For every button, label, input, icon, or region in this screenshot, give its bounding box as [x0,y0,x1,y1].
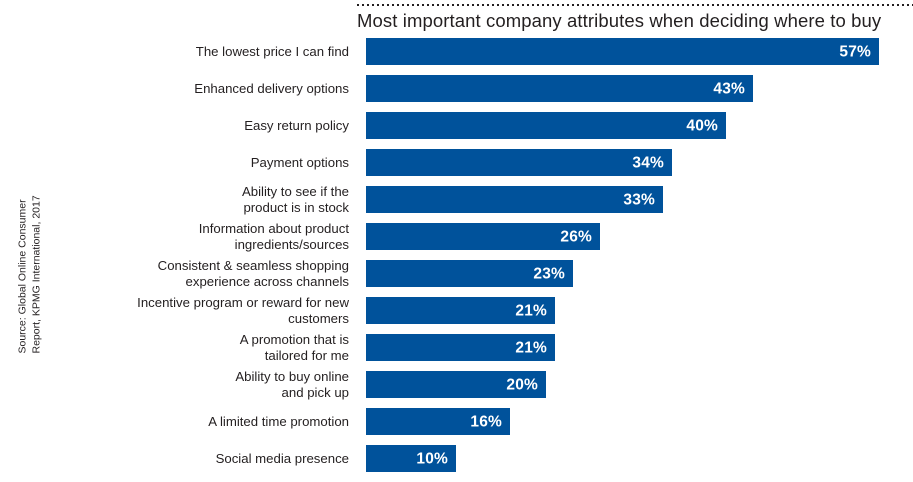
bar-value-label: 21% [515,339,547,356]
bar-row: Payment options34% [0,149,913,176]
bar-category-label: Incentive program or reward for new cust… [57,295,357,327]
bar-chart: Most important company attributes when d… [0,0,913,481]
bar-category-label: Social media presence [57,451,357,467]
bar-row: A promotion that is tailored for me21% [0,334,913,361]
bar-row: Information about product ingredients/so… [0,223,913,250]
bar-value-label: 34% [632,154,664,171]
bar-category-label: Payment options [57,155,357,171]
bar-value-label: 10% [416,450,448,467]
bar-value-label: 20% [506,376,538,393]
bar-value-label: 16% [470,413,502,430]
bar-row: Consistent & seamless shopping experienc… [0,260,913,287]
dotted-divider-line [357,4,913,6]
bar-category-label: Information about product ingredients/so… [57,221,357,253]
bar-category-label: A limited time promotion [57,414,357,430]
bar-category-label: A promotion that is tailored for me [57,332,357,364]
bar: 20% [366,371,546,398]
bar-value-label: 26% [560,228,592,245]
bar-value-label: 21% [515,302,547,319]
bar-value-label: 43% [713,80,745,97]
bar: 34% [366,149,672,176]
bar-row: Enhanced delivery options43% [0,75,913,102]
bar: 21% [366,334,555,361]
bar-row: Easy return policy40% [0,112,913,139]
bar: 57% [366,38,879,65]
bar-category-label: Ability to buy online and pick up [57,369,357,401]
chart-page: Source: Global Online Consumer Report, K… [0,0,913,481]
chart-plot-area: The lowest price I can find57%Enhanced d… [0,38,913,482]
bar: 21% [366,297,555,324]
bar: 23% [366,260,573,287]
bar-category-label: Consistent & seamless shopping experienc… [57,258,357,290]
bar: 40% [366,112,726,139]
bar-category-label: The lowest price I can find [57,44,357,60]
bar-row: Ability to see if the product is in stoc… [0,186,913,213]
bar-row: Incentive program or reward for new cust… [0,297,913,324]
bar-row: The lowest price I can find57% [0,38,913,65]
bar-category-label: Ability to see if the product is in stoc… [57,184,357,216]
bar-category-label: Enhanced delivery options [57,81,357,97]
chart-title: Most important company attributes when d… [357,9,881,33]
bar: 10% [366,445,456,472]
bar-row: Social media presence10% [0,445,913,472]
bar-value-label: 57% [839,43,871,60]
bar: 43% [366,75,753,102]
bar-row: A limited time promotion16% [0,408,913,435]
bar-category-label: Easy return policy [57,118,357,134]
bar-value-label: 33% [623,191,655,208]
bar: 33% [366,186,663,213]
bar: 26% [366,223,600,250]
bar: 16% [366,408,510,435]
bar-row: Ability to buy online and pick up20% [0,371,913,398]
bar-value-label: 40% [686,117,718,134]
bar-value-label: 23% [533,265,565,282]
